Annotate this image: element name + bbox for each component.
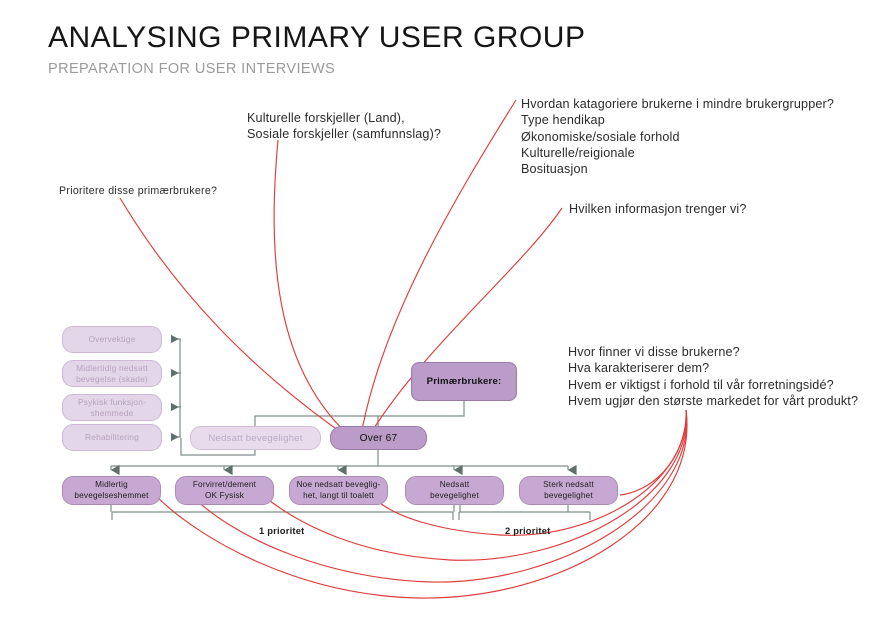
node-midlertig-bevegelseshemmet-label: Midlertig bevegelseshemmet xyxy=(74,480,148,500)
node-psykisk-funksjonshemmede-label: Psykisk funksjon- shemmede xyxy=(78,397,146,418)
leader-kulturelle xyxy=(274,140,355,441)
node-nedsatt-bevegelighet-middle-label: Nedsatt bevegelighet xyxy=(208,433,302,444)
node-sterk-nedsatt-bevegelighet[interactable]: Sterk nedsatt bevegelighet xyxy=(519,476,618,505)
node-psykisk-funksjonshemmede[interactable]: Psykisk funksjon- shemmede xyxy=(62,394,162,421)
node-noe-nedsatt-bevegelighet-label: Noe nedsatt beveglig- het, langt til toa… xyxy=(297,480,381,500)
node-over-67[interactable]: Over 67 xyxy=(330,426,427,450)
node-nedsatt-bevegelighet-middle[interactable]: Nedsatt bevegelighet xyxy=(190,426,321,450)
priority-label-2: 2 prioritet xyxy=(505,525,550,536)
node-forvirret-dement-label: Forvirret/dement OK Fysisk xyxy=(193,480,256,500)
node-primaerbrukere-label: Primærbrukere: xyxy=(427,376,502,387)
annotation-prioritere-primaerbrukere: Prioritere disse primærbrukere? xyxy=(59,184,217,198)
node-noe-nedsatt-bevegelighet[interactable]: Noe nedsatt beveglig- het, langt til toa… xyxy=(289,476,388,505)
annotation-hvilken-informasjon: Hvilken informasjon trenger vi? xyxy=(569,201,747,217)
annotation-kulturelle-forskjeller: Kulturelle forskjeller (Land), Sosiale f… xyxy=(247,110,441,143)
leader-bottom-4 xyxy=(380,410,686,535)
node-over-67-label: Over 67 xyxy=(360,433,398,444)
node-nedsatt-bevegelighet[interactable]: Nedsatt bevegelighet xyxy=(405,476,504,505)
node-overvektige[interactable]: Overvektige xyxy=(62,326,162,353)
node-rehabilitering[interactable]: Rehabilitering xyxy=(62,424,162,451)
node-rehabilitering-label: Rehabilitering xyxy=(85,432,139,443)
node-overvektige-label: Overvektige xyxy=(89,334,136,345)
title-block: ANALYSING PRIMARY USER GROUP PREPARATION… xyxy=(48,22,585,77)
node-nedsatt-bevegelighet-label: Nedsatt bevegelighet xyxy=(430,480,479,500)
node-midlertidig-nedsatt-bevegelse[interactable]: Midlertidig nedsatt bevegelse (skade) xyxy=(62,360,162,387)
node-forvirret-dement[interactable]: Forvirret/dement OK Fysisk xyxy=(175,476,274,505)
node-primaerbrukere[interactable]: Primærbrukere: xyxy=(411,362,517,401)
node-midlertidig-nedsatt-bevegelse-label: Midlertidig nedsatt bevegelse (skade) xyxy=(76,363,148,384)
annotation-katagoriere-brukerne: Hvordan katagoriere brukerne i mindre br… xyxy=(521,96,834,177)
node-midlertig-bevegelseshemmet[interactable]: Midlertig bevegelseshemmet xyxy=(62,476,161,505)
node-sterk-nedsatt-bevegelighet-label: Sterk nedsatt bevegelighet xyxy=(543,480,594,500)
page-title: ANALYSING PRIMARY USER GROUP xyxy=(48,22,585,54)
diagram-canvas xyxy=(0,0,880,622)
annotation-hvor-finner-vi-brukerne: Hvor finner vi disse brukerne? Hva karak… xyxy=(568,344,858,409)
priority-label-1: 1 prioritet xyxy=(259,525,304,536)
page-subtitle: PREPARATION FOR USER INTERVIEWS xyxy=(48,61,585,77)
